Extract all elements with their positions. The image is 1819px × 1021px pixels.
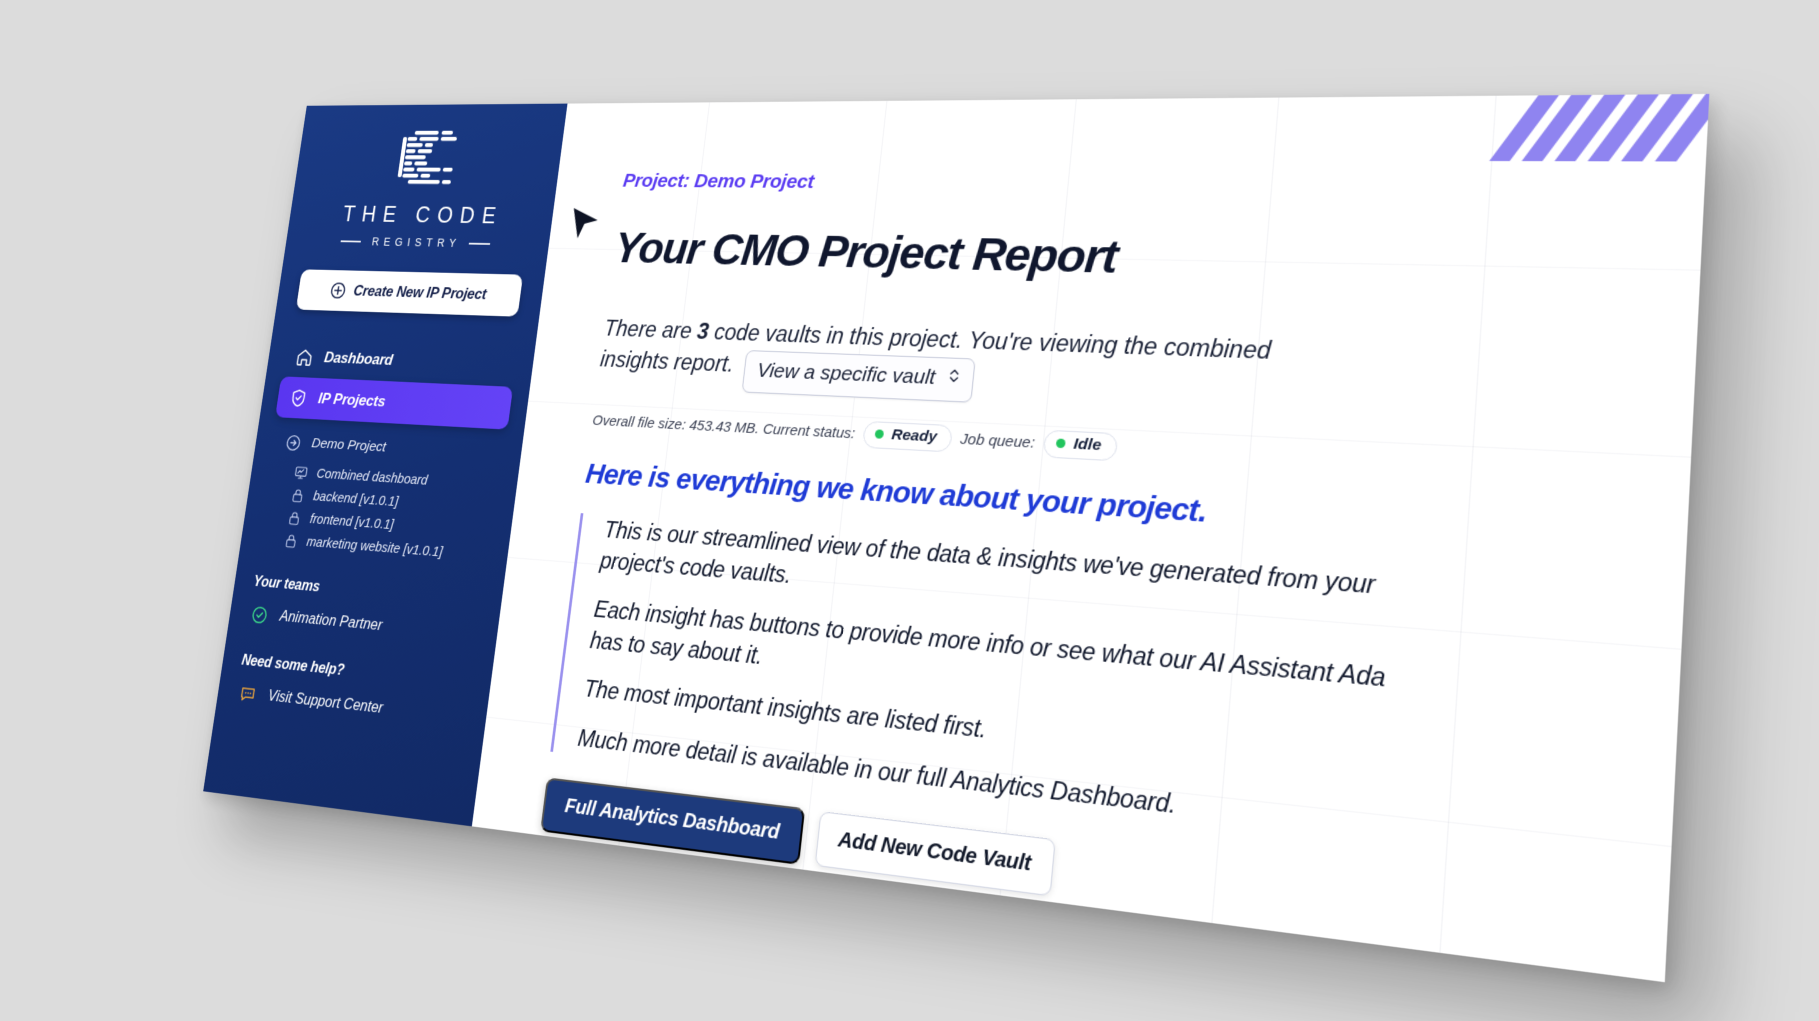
vault-item-label: backend [v1.0.1] xyxy=(312,489,399,510)
home-icon xyxy=(293,346,315,368)
lock-icon xyxy=(282,531,299,549)
vault-item-label: marketing website [v1.0.1] xyxy=(306,534,444,559)
plus-circle-icon xyxy=(329,282,347,300)
file-size-status-text: Overall file size: 453.43 MB. Current st… xyxy=(592,412,856,442)
teams-section-title: Your teams xyxy=(252,574,485,611)
report-content: Project: Demo Project Your CMO Project R… xyxy=(472,94,1709,977)
arrow-right-circle-icon xyxy=(282,431,304,454)
vault-select-value: View a specific vault xyxy=(755,356,936,393)
sidebar-item-dashboard-label: Dashboard xyxy=(323,349,394,370)
code-registry-logo-icon xyxy=(388,127,465,192)
cursor-arrow-icon xyxy=(563,204,606,249)
create-new-ip-project-label: Create New IP Project xyxy=(352,283,487,304)
team-item-label: Animation Partner xyxy=(279,609,384,635)
sidebar-item-demo-project-label: Demo Project xyxy=(310,435,387,456)
chevron-updown-icon xyxy=(945,364,962,395)
page-title: Your CMO Project Report xyxy=(612,225,1119,282)
sidebar-subnav: Demo Project Combined dashboard xyxy=(256,428,506,565)
status-dot-icon xyxy=(875,429,885,438)
sidebar-item-demo-project[interactable]: Demo Project xyxy=(282,428,506,468)
vault-list: Combined dashboard backend [v1.0.1] xyxy=(268,462,501,565)
vault-item-label: frontend [v1.0.1] xyxy=(309,512,395,533)
lock-icon xyxy=(285,509,302,527)
full-analytics-dashboard-button[interactable]: Full Analytics Dashboard xyxy=(540,777,805,864)
intro-before-count: There are xyxy=(603,316,699,344)
status-badge-idle[interactable]: Idle xyxy=(1043,429,1118,461)
check-circle-icon xyxy=(249,603,271,627)
intro-paragraph: There are 3 code vaults in this project.… xyxy=(597,313,1329,418)
breadcrumb-project: Project: Demo Project xyxy=(622,170,1632,200)
lock-icon xyxy=(289,486,306,504)
status-badge-idle-label: Idle xyxy=(1073,435,1102,455)
divider-right xyxy=(469,243,490,245)
sidebar-nav: Dashboard IP Projects xyxy=(275,336,519,430)
chat-bubble-icon xyxy=(237,682,259,706)
brand-sub: REGISTRY xyxy=(368,236,462,250)
chart-monitor-icon xyxy=(292,463,309,481)
sidebar-item-ip-projects[interactable]: IP Projects xyxy=(275,376,513,429)
status-badge-ready[interactable]: Ready xyxy=(862,420,953,452)
team-item-animation-partner[interactable]: Animation Partner xyxy=(249,603,482,647)
page-title-row: Your CMO Project Report xyxy=(557,195,1630,328)
brand-sub-row: REGISTRY xyxy=(340,235,491,250)
vault-select[interactable]: View a specific vault xyxy=(742,350,976,402)
add-new-code-vault-button[interactable]: Add New Code Vault xyxy=(815,811,1056,896)
vault-item-label: Combined dashboard xyxy=(316,466,429,488)
status-badge-ready-label: Ready xyxy=(891,426,938,446)
brand-name: THE CODE xyxy=(334,202,504,230)
queue-dot-icon xyxy=(1056,439,1066,449)
create-new-ip-project-button[interactable]: Create New IP Project xyxy=(296,269,523,316)
app-window: THE CODE REGISTRY Create New IP Project xyxy=(203,94,1709,982)
divider-left xyxy=(341,241,361,243)
shield-check-icon xyxy=(287,387,309,409)
visit-support-center-label: Visit Support Center xyxy=(267,688,384,718)
brand-logo[interactable]: THE CODE REGISTRY xyxy=(301,127,548,251)
sidebar-item-ip-projects-label: IP Projects xyxy=(317,390,387,411)
screenshot-stage: THE CODE REGISTRY Create New IP Project xyxy=(0,0,1819,1021)
job-queue-label: Job queue: xyxy=(960,430,1036,451)
main-content: Project: Demo Project Your CMO Project R… xyxy=(472,94,1710,982)
